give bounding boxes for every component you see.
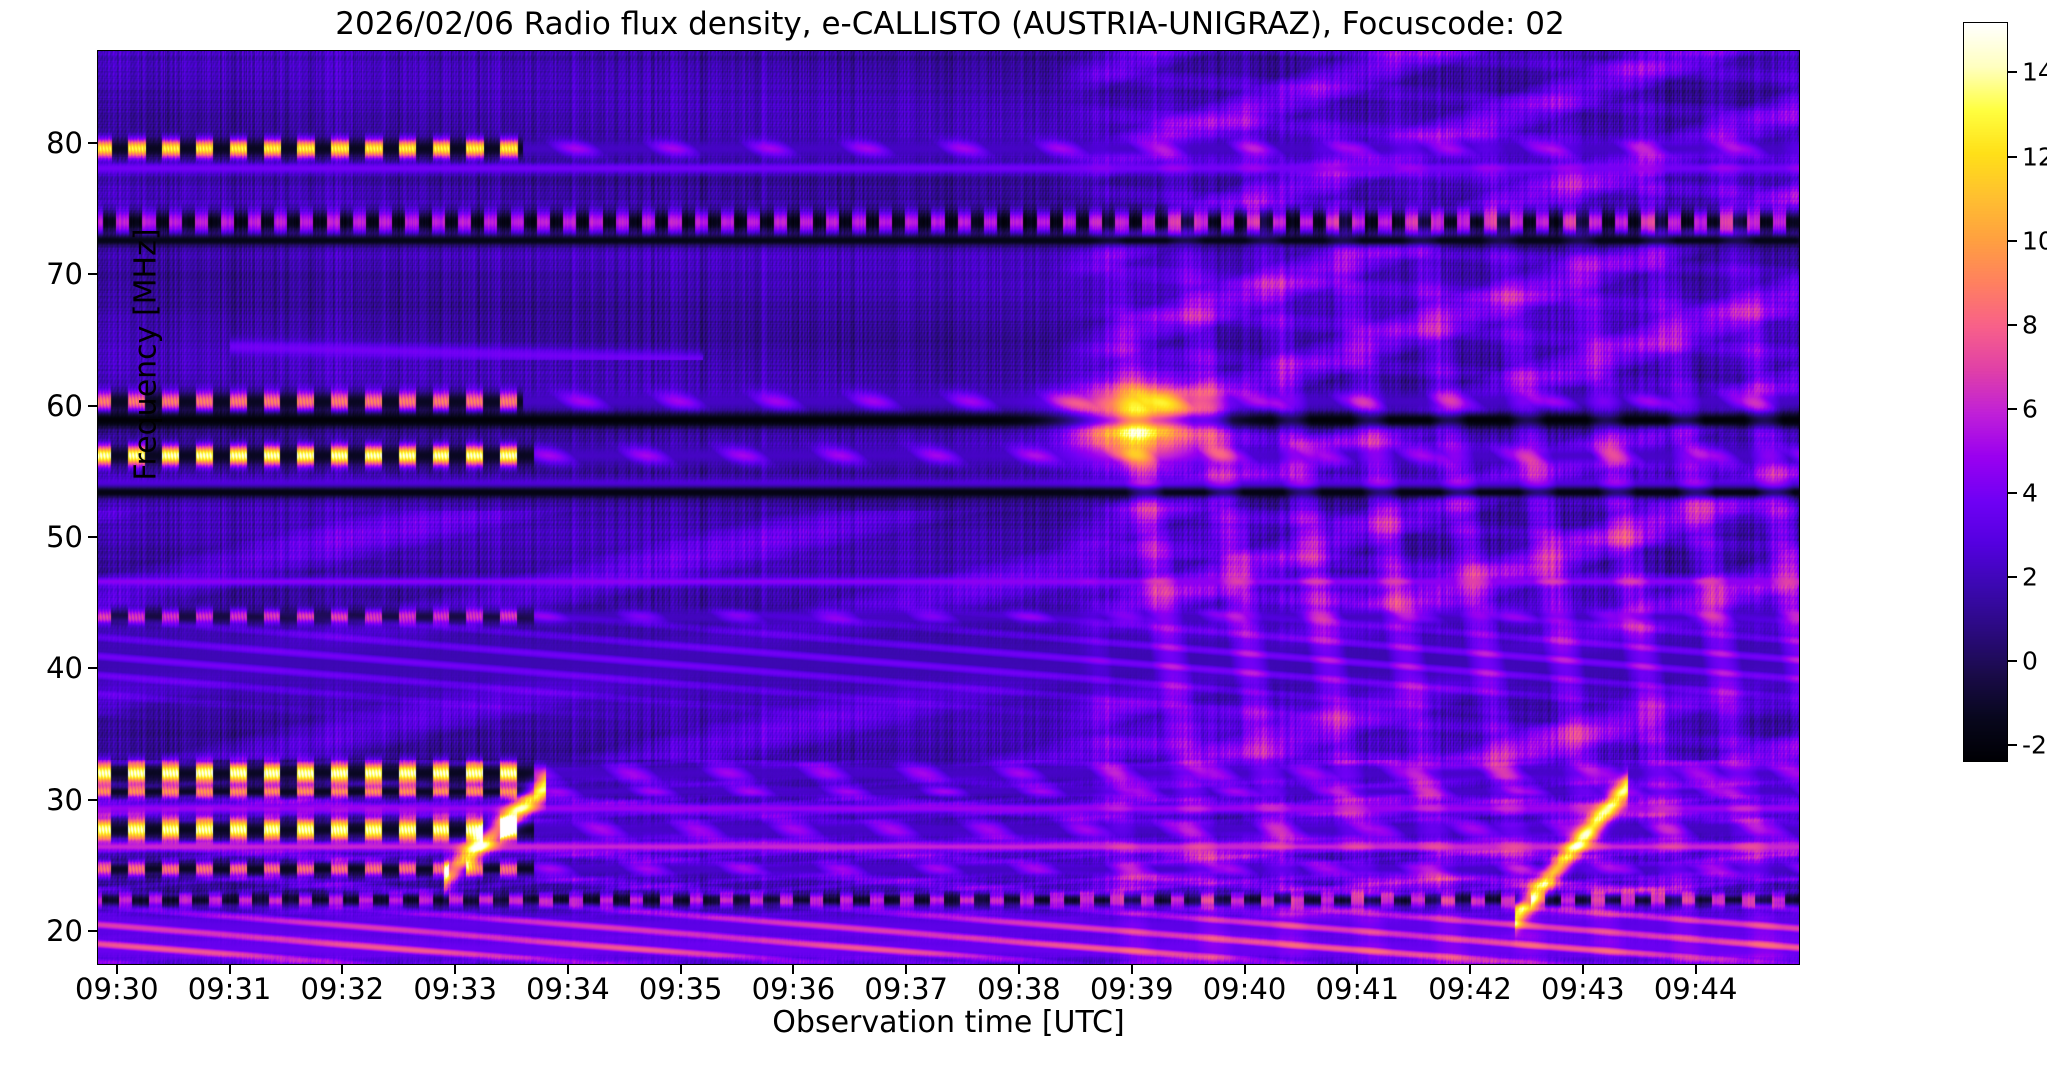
colorbar-tick-mark xyxy=(2008,240,2017,242)
y-tick-mark xyxy=(88,405,97,407)
x-tick-label: 09:36 xyxy=(752,972,836,1006)
y-tick-label: 80 xyxy=(31,126,83,160)
colorbar-tick-mark xyxy=(2008,324,2017,326)
x-tick-label: 09:41 xyxy=(1316,972,1400,1006)
x-axis-label: Observation time [UTC] xyxy=(97,1005,1800,1040)
colorbar-tick-label: 4 xyxy=(2022,478,2038,507)
x-tick-label: 09:40 xyxy=(1203,972,1287,1006)
colorbar-tick-label: 0 xyxy=(2022,647,2038,676)
spectrogram-page: 2026/02/06 Radio flux density, e-CALLIST… xyxy=(0,0,2047,1067)
y-axis-label: Frequency [MHz] xyxy=(129,185,164,525)
colorbar-tick-label: 14 xyxy=(2022,58,2047,87)
colorbar-tick-label: 12 xyxy=(2022,142,2047,171)
x-tick-label: 09:33 xyxy=(413,972,497,1006)
y-tick-label: 60 xyxy=(31,389,83,423)
y-tick-label: 30 xyxy=(31,783,83,817)
y-tick-mark xyxy=(88,799,97,801)
x-tick-label: 09:32 xyxy=(301,972,385,1006)
y-tick-mark xyxy=(88,536,97,538)
x-tick-label: 09:42 xyxy=(1428,972,1512,1006)
x-tick-label: 09:34 xyxy=(526,972,610,1006)
colorbar-tick-mark xyxy=(2008,408,2017,410)
x-tick-label: 09:38 xyxy=(977,972,1061,1006)
y-tick-label: 50 xyxy=(31,520,83,554)
y-tick-mark xyxy=(88,273,97,275)
spectrogram-plot-area[interactable] xyxy=(97,50,1800,965)
colorbar-tick-mark xyxy=(2008,71,2017,73)
colorbar-tick-mark xyxy=(2008,744,2017,746)
colorbar xyxy=(1963,22,2008,762)
colorbar-tick-mark xyxy=(2008,660,2017,662)
y-tick-label: 70 xyxy=(31,257,83,291)
page-title: 2026/02/06 Radio flux density, e-CALLIST… xyxy=(0,6,1900,42)
x-tick-label: 09:39 xyxy=(1090,972,1174,1006)
x-tick-label: 09:35 xyxy=(639,972,723,1006)
colorbar-tick-label: 6 xyxy=(2022,394,2038,423)
colorbar-tick-mark xyxy=(2008,492,2017,494)
y-tick-mark xyxy=(88,930,97,932)
colorbar-tick-label: 8 xyxy=(2022,310,2038,339)
colorbar-tick-label: 2 xyxy=(2022,563,2038,592)
y-tick-mark xyxy=(88,142,97,144)
colorbar-tick-label: -2 xyxy=(2022,731,2047,760)
colorbar-tick-mark xyxy=(2008,576,2017,578)
colorbar-tick-label: 10 xyxy=(2022,226,2047,255)
spectrogram-image xyxy=(98,51,1799,964)
x-tick-label: 09:44 xyxy=(1654,972,1738,1006)
x-tick-label: 09:37 xyxy=(864,972,948,1006)
y-tick-label: 40 xyxy=(31,651,83,685)
y-tick-mark xyxy=(88,667,97,669)
x-tick-label: 09:31 xyxy=(188,972,272,1006)
x-tick-label: 09:43 xyxy=(1541,972,1625,1006)
y-tick-label: 20 xyxy=(31,914,83,948)
colorbar-tick-mark xyxy=(2008,156,2017,158)
x-tick-label: 09:30 xyxy=(75,972,159,1006)
colorbar-gradient xyxy=(1964,23,2007,761)
